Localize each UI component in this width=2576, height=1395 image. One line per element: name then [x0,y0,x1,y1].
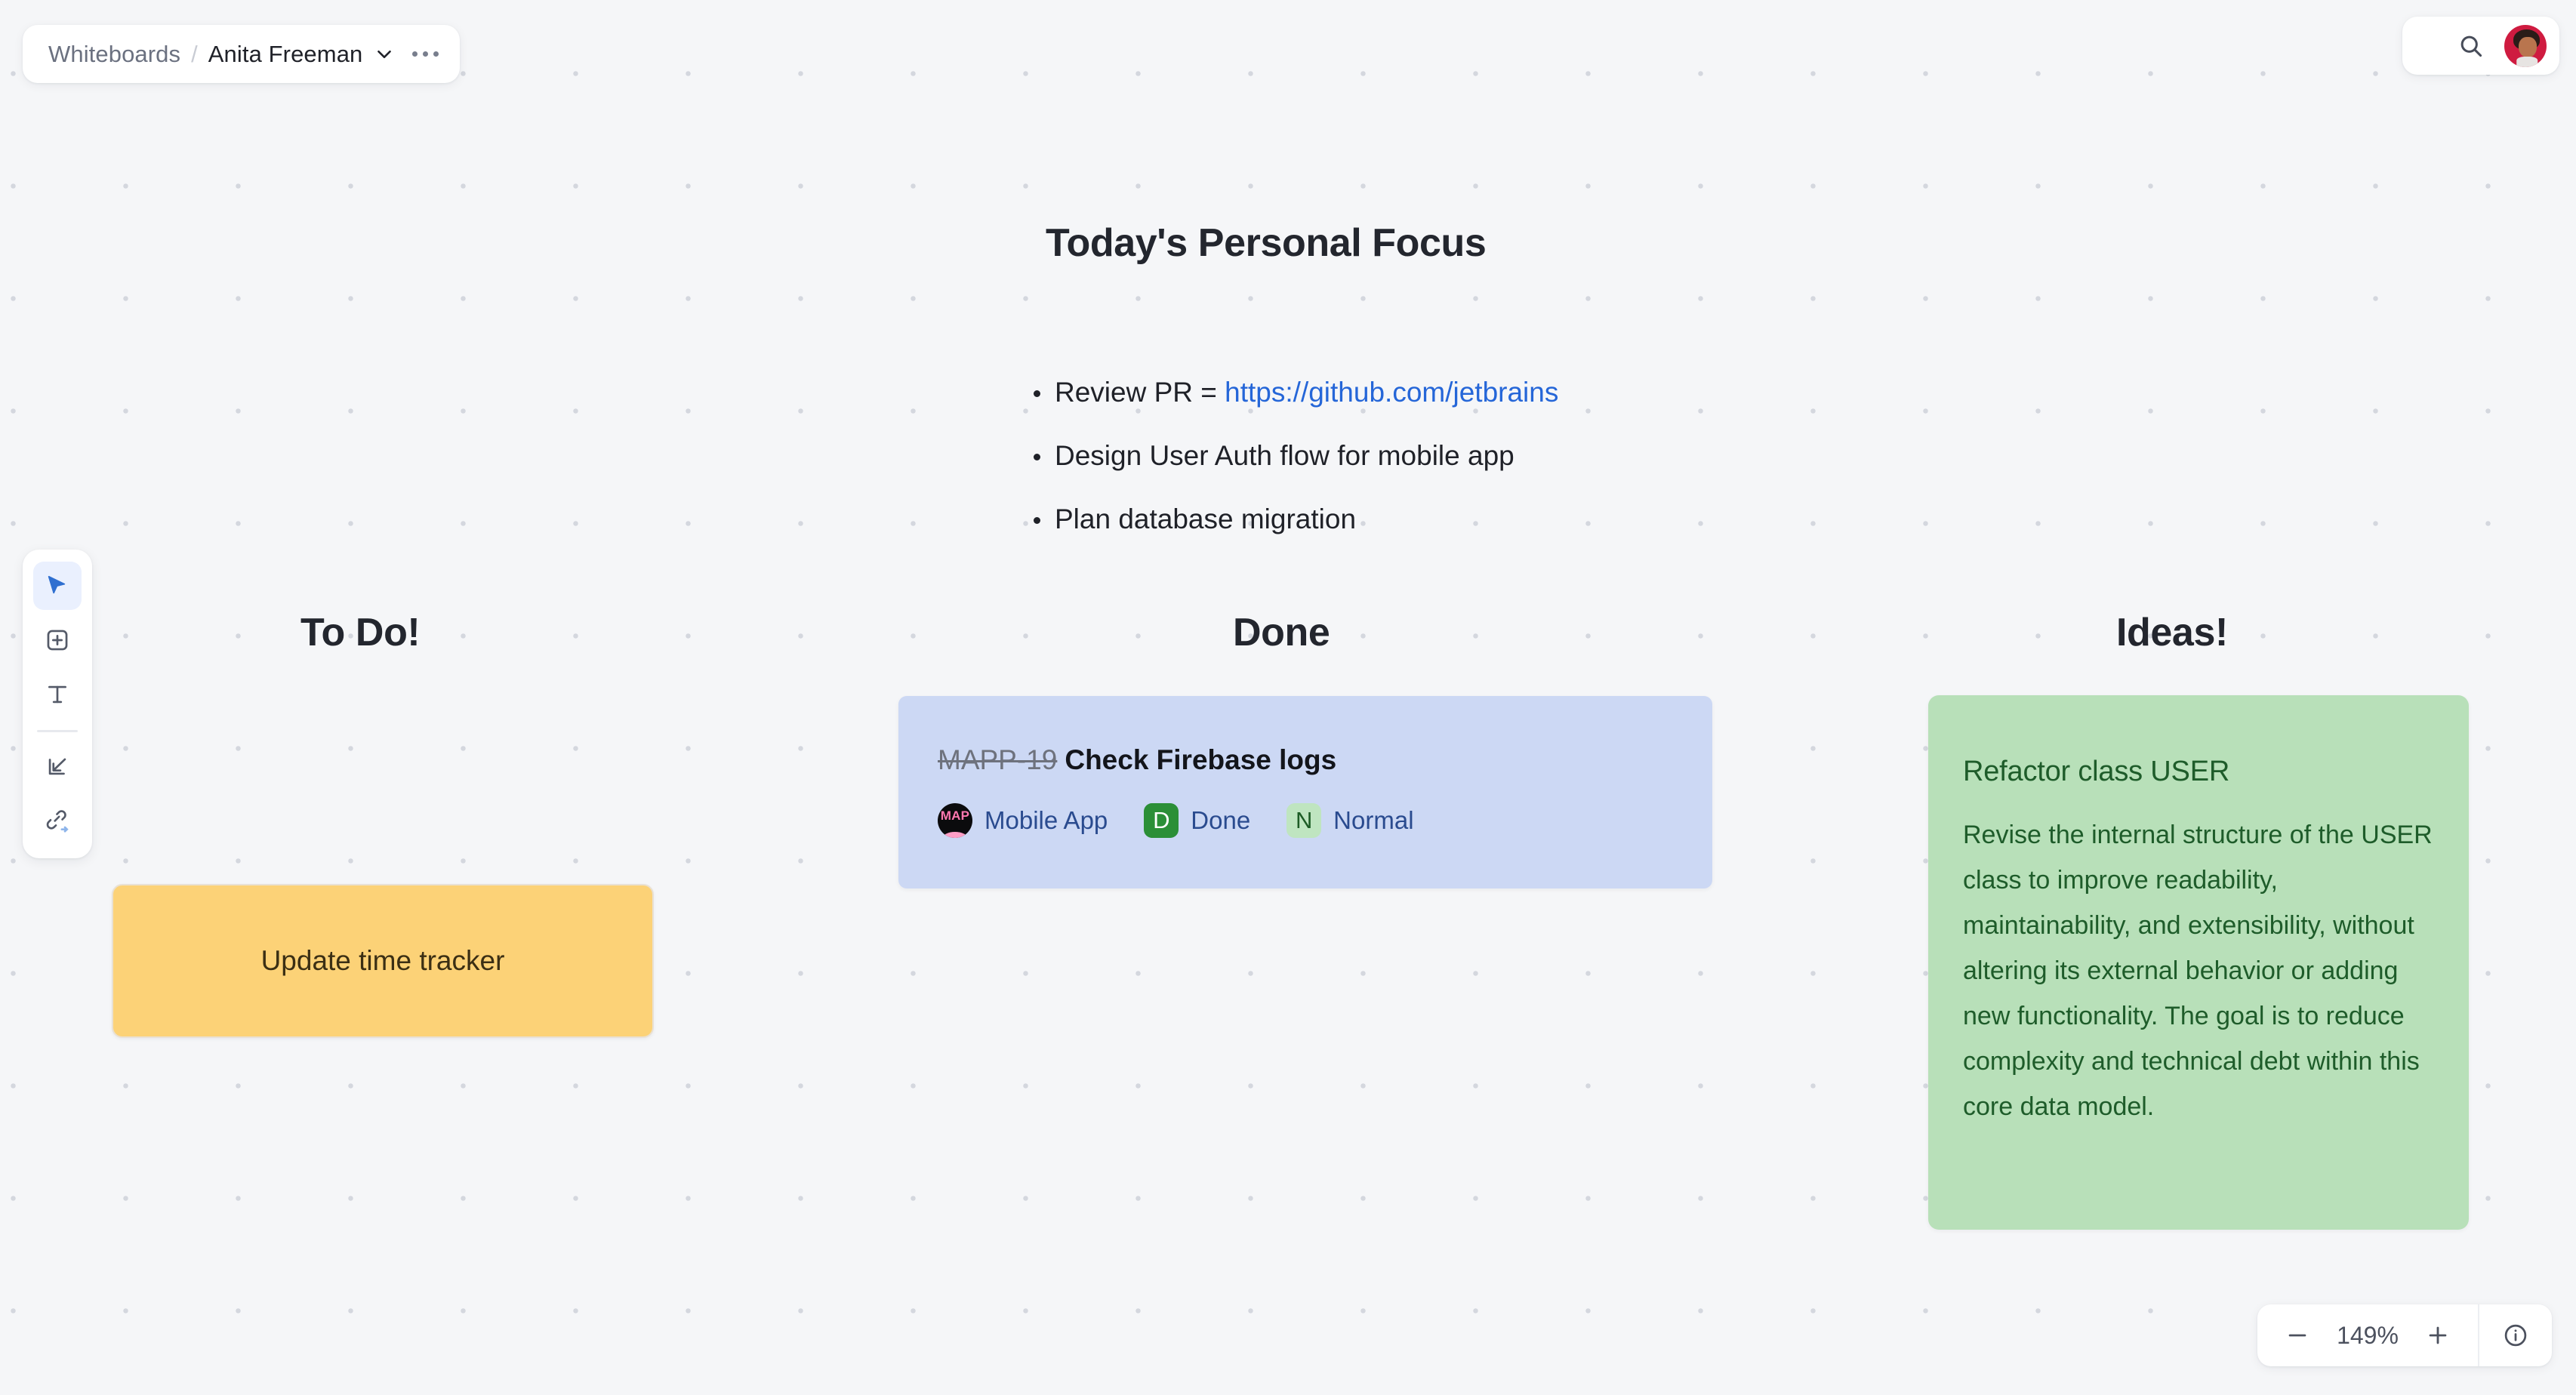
column-heading-todo: To Do! [300,610,420,655]
list-item: Plan database migration [1055,488,1558,551]
sticky-note-label: Update time tracker [261,945,505,977]
task-card-headline: MAPP-19Check Firebase logs [938,746,1712,774]
link-tool[interactable] [33,796,82,845]
task-title: Check Firebase logs [1065,744,1336,775]
import-tool[interactable] [33,742,82,790]
whiteboard-canvas[interactable]: Whiteboards / Anita Freeman [0,0,2576,1395]
breadcrumb: Whiteboards / Anita Freeman [23,25,460,83]
task-meta-row: MAP Mobile App D Done N Normal [938,803,1712,838]
idea-card-title: Refactor class USER [1963,756,2436,788]
task-issue-key[interactable]: MAPP-19 [938,744,1057,775]
task-status[interactable]: D Done [1144,803,1250,838]
list-item-text: Plan database migration [1055,503,1356,534]
github-link[interactable]: https://github.com/jetbrains [1225,377,1558,408]
task-project[interactable]: MAP Mobile App [938,803,1108,838]
priority-badge-icon: N [1286,803,1321,838]
left-toolbar [23,550,92,858]
project-avatar-icon: MAP [938,803,972,838]
top-right-toolbar [2402,17,2559,75]
task-status-label: Done [1191,806,1250,835]
chevron-down-icon[interactable] [373,43,396,66]
minus-icon[interactable] [2277,1315,2318,1356]
avatar-shoulders [2516,57,2537,66]
zoom-control: 149% [2257,1304,2552,1366]
page-title: Today's Personal Focus [1046,220,1486,266]
breadcrumb-separator: / [191,41,198,68]
task-project-label: Mobile App [984,806,1108,835]
zoom-level-value[interactable]: 149% [2328,1322,2407,1350]
column-heading-done: Done [1233,610,1330,655]
breadcrumb-current-title[interactable]: Anita Freeman [208,41,363,68]
toolbar-divider [37,730,78,732]
idea-card[interactable]: Refactor class USER Revise the internal … [1928,695,2469,1230]
sticky-note-todo[interactable]: Update time tracker [112,884,654,1038]
ellipsis-icon[interactable] [412,51,439,57]
idea-card-body: Revise the internal structure of the USE… [1963,812,2436,1129]
list-item: Design User Auth flow for mobile app [1055,424,1558,488]
breadcrumb-root-link[interactable]: Whiteboards [48,41,180,68]
avatar[interactable] [2504,25,2547,67]
task-priority[interactable]: N Normal [1286,803,1413,838]
list-item: Review PR = https://github.com/jetbrains [1055,361,1558,424]
zoom-segment: 149% [2257,1304,2478,1366]
info-circle-icon[interactable] [2479,1322,2552,1349]
avatar-face [2519,37,2537,57]
search-icon[interactable] [2454,29,2488,63]
task-card-done[interactable]: MAPP-19Check Firebase logs MAP Mobile Ap… [898,696,1712,888]
status-badge-icon: D [1144,803,1179,838]
select-tool[interactable] [33,562,82,610]
list-item-text: Design User Auth flow for mobile app [1055,440,1514,471]
add-shape-tool[interactable] [33,616,82,664]
project-avatar-text: MAP [941,808,969,824]
focus-list: Review PR = https://github.com/jetbrains… [1015,361,1558,551]
list-item-text: Review PR = [1055,377,1225,408]
text-tool[interactable] [33,670,82,719]
task-priority-label: Normal [1333,806,1413,835]
plus-icon[interactable] [2417,1315,2458,1356]
column-heading-ideas: Ideas! [2116,610,2228,655]
